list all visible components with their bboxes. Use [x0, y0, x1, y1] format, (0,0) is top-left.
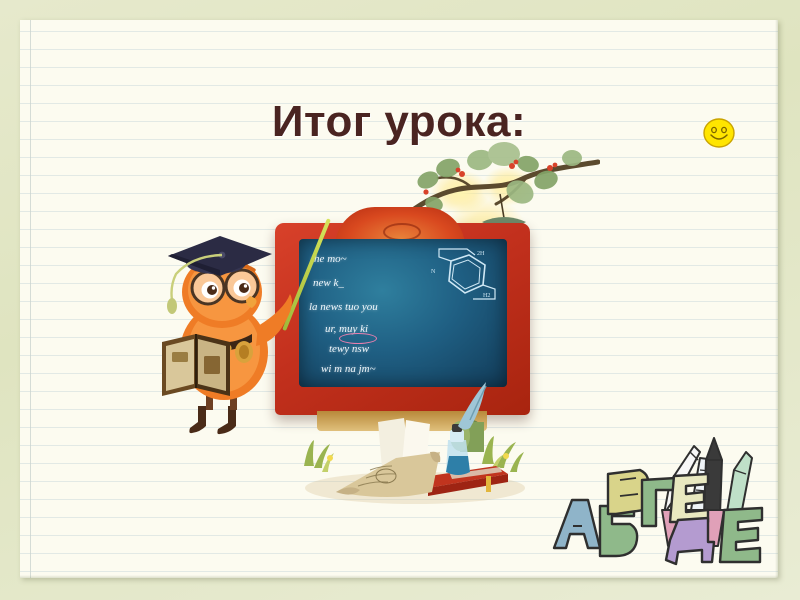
desk-items-group-icon	[300, 380, 530, 505]
chalk-line: tewy nsw	[329, 343, 369, 355]
page-bottom-edge-shadow	[20, 575, 778, 578]
svg-text:H2: H2	[483, 293, 490, 299]
letter-block-e-light	[670, 474, 708, 522]
chalk-circle-highlight	[339, 333, 377, 344]
letter-block-a	[554, 500, 600, 548]
chalk-line: wi m na jm~	[321, 363, 376, 375]
smiley-face-icon	[703, 118, 735, 148]
cyrillic-alphabet-blocks-icon	[548, 418, 776, 568]
letter-block-e	[720, 508, 762, 562]
benzene-hexagon-diagram-icon: 2H H2 N	[417, 247, 503, 309]
slide-canvas: Итог урока:	[0, 0, 800, 600]
blackboard-surface: the mo~ new k_ la news tuo you ur, muy k…	[299, 239, 507, 387]
chalk-line: la news tuo you	[309, 301, 378, 313]
owl-teacher-icon	[150, 230, 310, 445]
svg-text:N: N	[431, 269, 436, 275]
chalk-line: new k_	[313, 277, 344, 289]
svg-text:2H: 2H	[477, 251, 485, 257]
